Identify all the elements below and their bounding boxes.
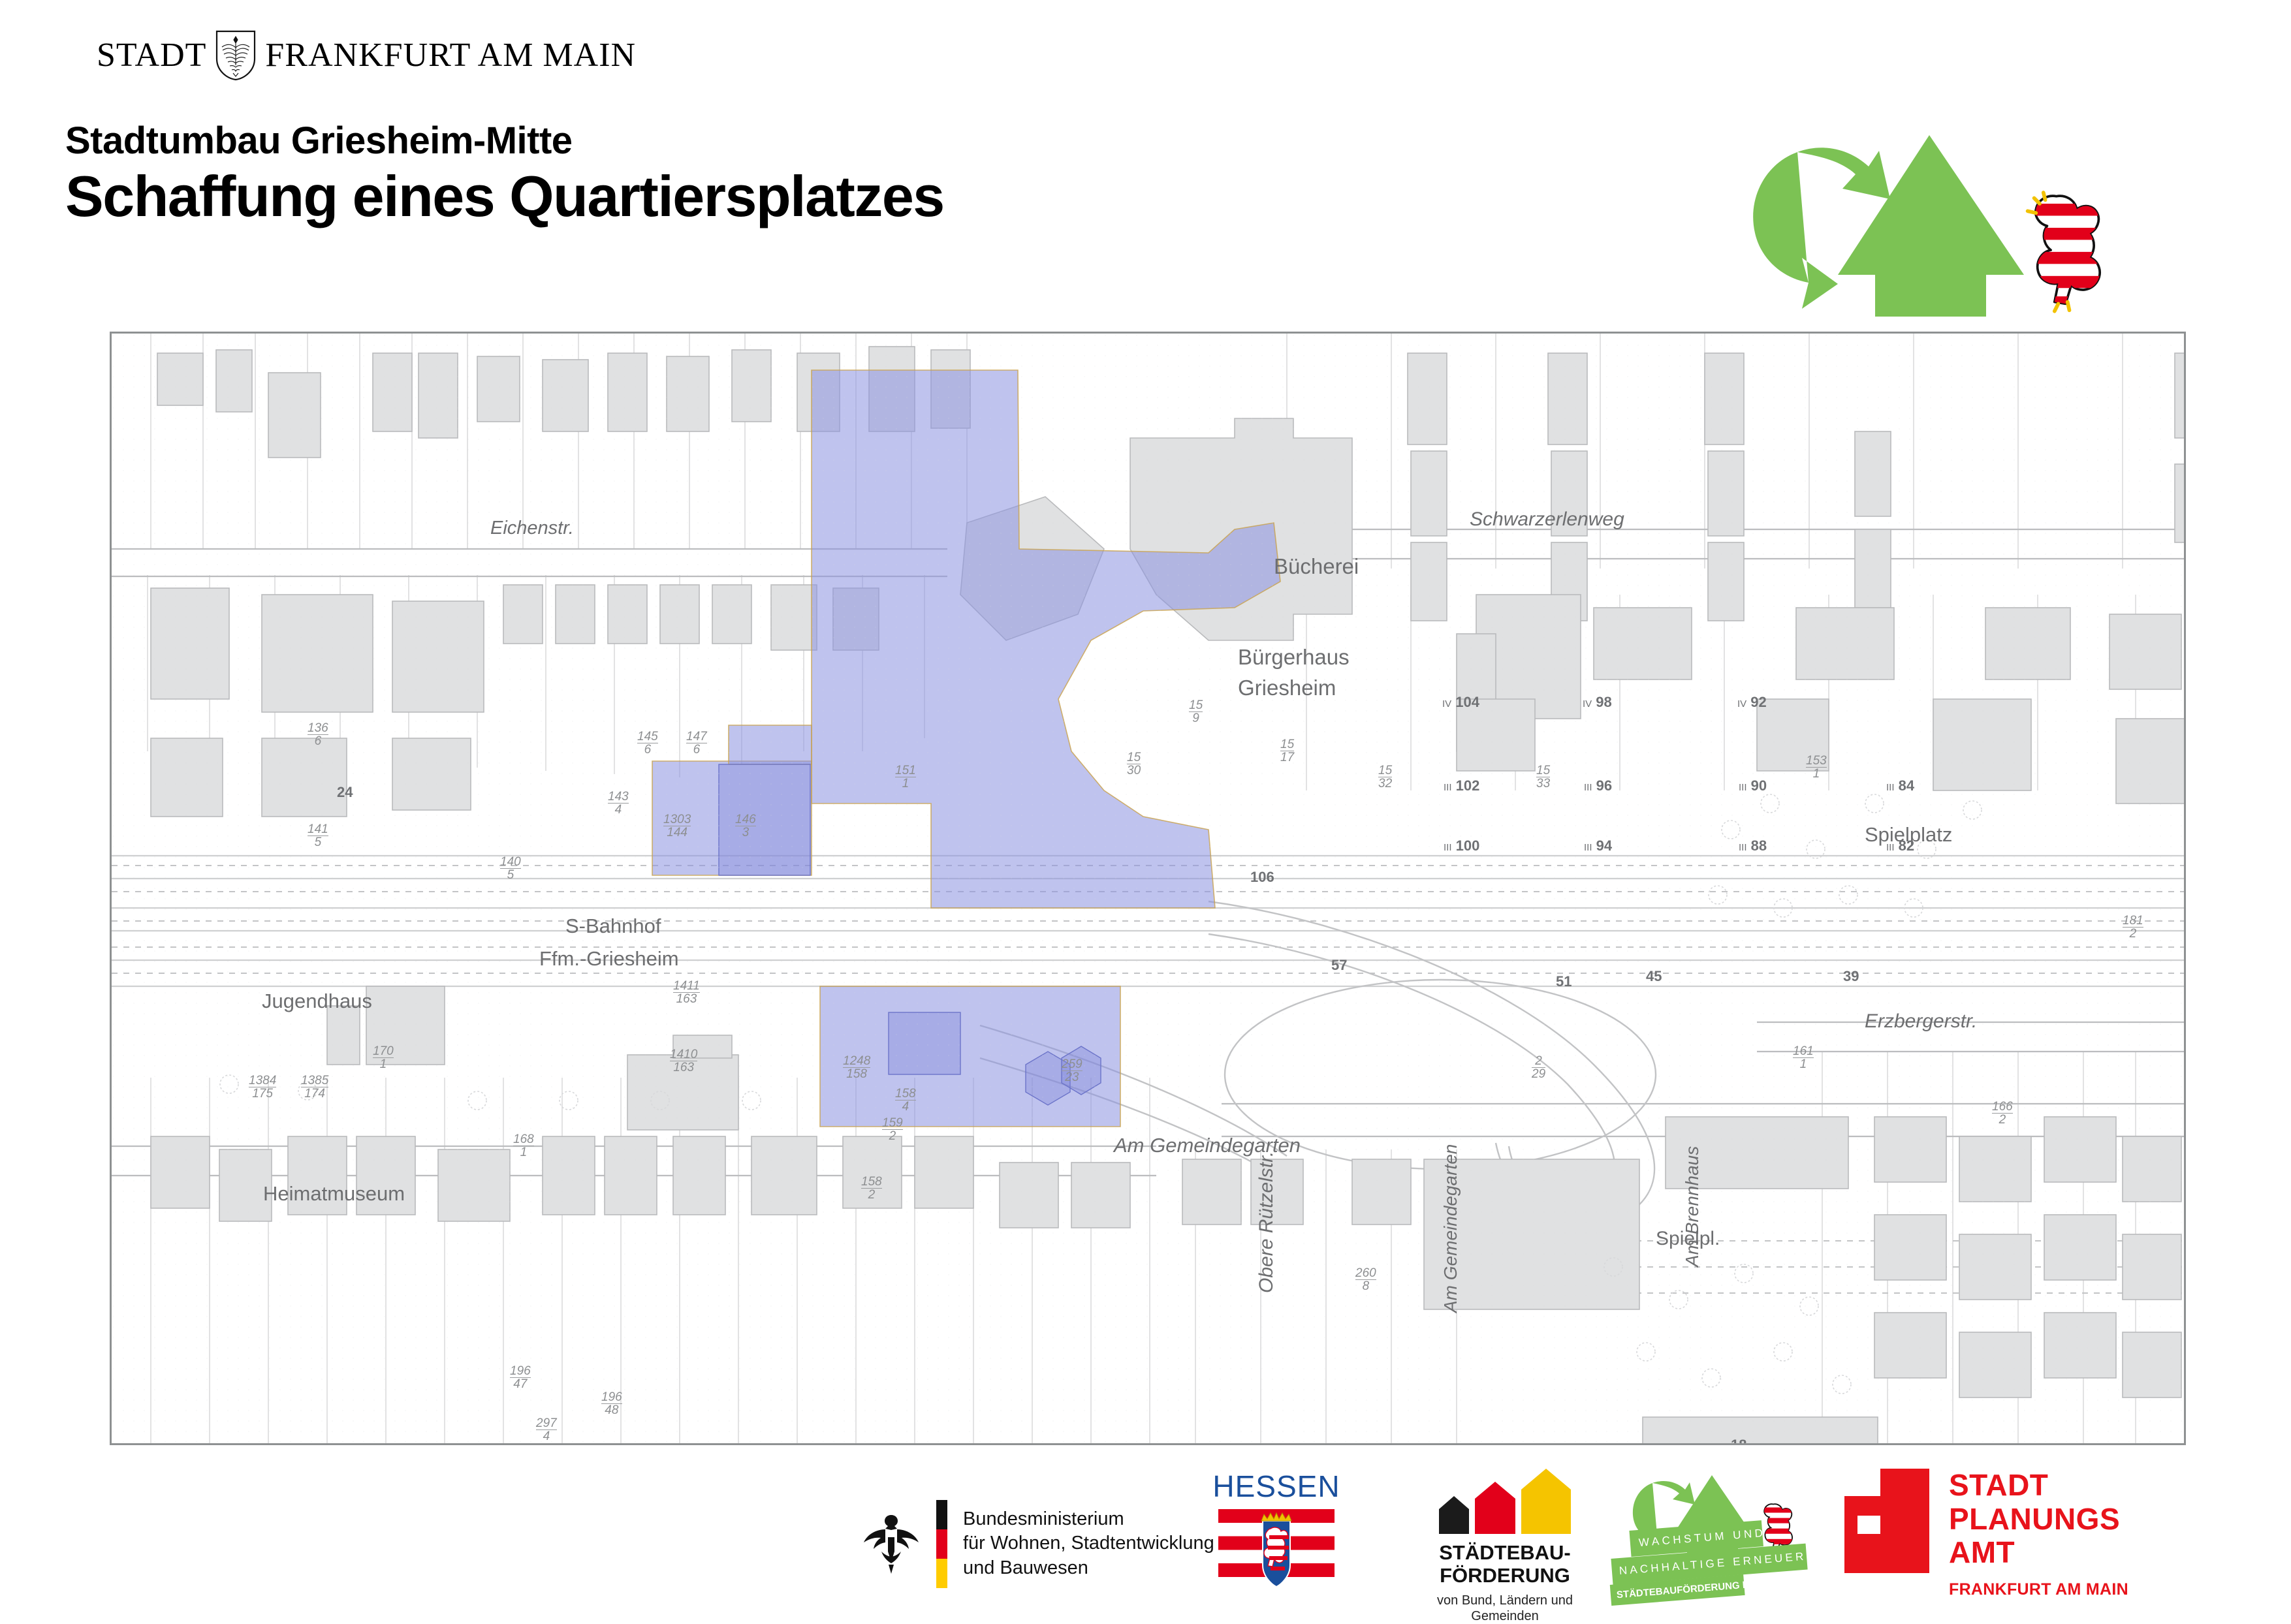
place-label-b-cherei: Bücherei — [1274, 554, 1359, 579]
house-number: III 88 — [1739, 837, 1767, 854]
frankfurt-eagle-shield-icon — [215, 30, 256, 81]
parcel-number: 1411163 — [673, 980, 700, 1005]
bmwsb-line3: und Bauwesen — [963, 1556, 1214, 1580]
staedtebau-subtitle: von Bund, Ländern und Gemeinden — [1397, 1593, 1613, 1624]
street-label-obere-r-tzelstr: Obere Rützelstr. — [1256, 1151, 1278, 1293]
cadastral-map[interactable]: Eichenstr.SchwarzerlenwegAm Gemeindegart… — [110, 332, 2186, 1445]
house-number: 24 — [337, 784, 353, 801]
house-number: 106 — [1250, 869, 1274, 886]
city-logo-frankfurt-am-main: FRANKFURT AM MAIN — [265, 39, 636, 72]
house-number: 45 — [1646, 968, 1662, 985]
place-label-ffm-griesheim: Ffm.-Griesheim — [539, 947, 679, 971]
parcel-number: 1405 — [500, 856, 521, 881]
stadtplanungsamt-logo: STADT PLANUNGS AMT FRANKFURT AM MAIN — [1844, 1469, 2171, 1619]
parcel-number: 1385174 — [301, 1074, 328, 1100]
place-label-b-rgerhaus: Bürgerhaus — [1238, 645, 1350, 670]
hessen-coat-of-arms-icon — [1218, 1509, 1335, 1591]
place-label-jugendhaus: Jugendhaus — [262, 990, 372, 1013]
parcel-number: 1415 — [308, 823, 328, 849]
parcel-number: 1531 — [1806, 755, 1827, 780]
parcel-number: 1611 — [1793, 1045, 1814, 1070]
house-number: III 82 — [1886, 837, 1914, 854]
bmwsb-line1: Bundesministerium — [963, 1507, 1214, 1531]
house-number: III 102 — [1444, 777, 1479, 794]
parcel-number: 2608 — [1355, 1267, 1376, 1292]
house-number: III 94 — [1584, 837, 1612, 854]
house-number: 39 — [1843, 968, 1859, 985]
stadtplanungsamt-block-mark-icon — [1844, 1469, 1929, 1573]
city-of-frankfurt-logo: STADT FRANKFURT AM MAIN — [97, 29, 514, 82]
parcel-number: 1532 — [1378, 764, 1392, 790]
parcel-number: 1662 — [1992, 1101, 2013, 1126]
place-label-griesheim: Griesheim — [1238, 676, 1336, 700]
parcel-number: 1476 — [686, 730, 707, 756]
street-label-erzbergerstr: Erzbergerstr. — [1865, 1010, 1977, 1033]
staedtebau-sub2: Gemeinden — [1397, 1608, 1613, 1624]
staedtebau-line1: STÄDTEBAU- — [1397, 1542, 1613, 1565]
house-number: IV 104 — [1442, 694, 1479, 711]
house-number: 57 — [1331, 957, 1347, 974]
parcel-number: 1582 — [861, 1176, 882, 1201]
hessen-wordmark: HESSEN — [1212, 1469, 1340, 1504]
parcel-number: 1248158 — [843, 1055, 870, 1080]
map-drawing — [112, 334, 2184, 1443]
page-footer: Bundesministerium für Wohnen, Stadtentwi… — [0, 1469, 2291, 1619]
stadtplanungsamt-text: STADT PLANUNGS AMT FRANKFURT AM MAIN — [1949, 1469, 2128, 1599]
page-title: Schaffung eines Quartiersplatzes — [65, 163, 944, 230]
parcel-number: 1584 — [895, 1087, 916, 1113]
spa-line2: PLANUNGS — [1949, 1503, 2128, 1537]
house-number: IV 92 — [1737, 694, 1767, 711]
parcel-number: 1812 — [2123, 914, 2143, 940]
house-number: 18 — [1731, 1437, 1746, 1445]
spa-line1: STADT — [1949, 1469, 2128, 1503]
house-number: III 90 — [1739, 777, 1767, 794]
parcel-number: 1592 — [882, 1117, 903, 1142]
project-subtitle: Stadtumbau Griesheim-Mitte — [65, 119, 573, 163]
house-number: 51 — [1556, 973, 1572, 990]
parcel-number: 19647 — [510, 1365, 531, 1390]
house-number: III 100 — [1444, 837, 1479, 854]
parcel-number: 1456 — [637, 730, 658, 756]
place-label-s-bahnhof: S-Bahnhof — [565, 914, 661, 938]
staedtebau-line2: FÖRDERUNG — [1397, 1565, 1613, 1587]
parcel-number: 1463 — [735, 813, 756, 839]
street-label-eichenstr: Eichenstr. — [490, 518, 574, 539]
bundesadler-icon — [862, 1511, 921, 1576]
parcel-number: 2974 — [536, 1417, 557, 1443]
parcel-number: 25923 — [1062, 1058, 1082, 1084]
hessen-logo: HESSEN — [1211, 1469, 1342, 1619]
parcel-number: 1517 — [1280, 738, 1294, 764]
bmwsb-text: Bundesministerium für Wohnen, Stadtentwi… — [963, 1507, 1214, 1580]
place-label-spielpl: Spielpl. — [1656, 1228, 1720, 1250]
german-flag-bar-icon — [936, 1500, 947, 1588]
house-number: III 84 — [1886, 777, 1914, 794]
street-label-am-gemeindegarten: Am Gemeindegarten — [1440, 1144, 1461, 1313]
spa-line3: AMT — [1949, 1536, 2128, 1570]
staedtebau-sub1: von Bund, Ländern und — [1397, 1593, 1613, 1608]
house-number: IV 98 — [1583, 694, 1612, 711]
parcel-number: 19648 — [601, 1391, 622, 1416]
parcel-number: 1530 — [1127, 751, 1141, 777]
staedtebau-title: STÄDTEBAU- FÖRDERUNG — [1397, 1542, 1613, 1587]
parcel-number: 1511 — [895, 764, 916, 790]
parcel-number: 1434 — [608, 790, 629, 816]
parcel-number: 1533 — [1536, 764, 1550, 790]
parcel-number: 159 — [1189, 699, 1203, 725]
place-label-heimatmuseum: Heimatmuseum — [263, 1182, 405, 1206]
staedtebaufoerderung-logo: STÄDTEBAU- FÖRDERUNG von Bund, Ländern u… — [1397, 1469, 1613, 1619]
parcel-number: 1303144 — [663, 813, 691, 839]
street-label-schwarzerlenweg: Schwarzerlenweg — [1470, 508, 1624, 531]
city-logo-stadt: STADT — [97, 39, 206, 72]
three-houses-icon — [1397, 1469, 1613, 1534]
wachstum-erneuerung-logo-small: WACHSTUM UND NACHHALTIGE ERNEUERUNG STÄD… — [1609, 1469, 1831, 1619]
page-header: STADT FRANKFURT AM MAIN Stadtumbau Gries… — [0, 0, 2291, 320]
bmwsb-line2: für Wohnen, Stadtentwicklung — [963, 1531, 1214, 1555]
parcel-number: 1366 — [308, 722, 328, 747]
spa-sub: FRANKFURT AM MAIN — [1949, 1580, 2128, 1599]
parcel-number: 1681 — [513, 1133, 534, 1159]
house-number: III 96 — [1584, 777, 1612, 794]
parcel-number: 1410163 — [670, 1048, 697, 1074]
parcel-number: 1384175 — [249, 1074, 276, 1100]
parcel-number: 229 — [1532, 1055, 1545, 1080]
bmwsb-logo: Bundesministerium für Wohnen, Stadtentwi… — [862, 1469, 1267, 1619]
hessen-flag-icon — [1218, 1509, 1335, 1591]
parcel-number: 1701 — [373, 1045, 394, 1070]
